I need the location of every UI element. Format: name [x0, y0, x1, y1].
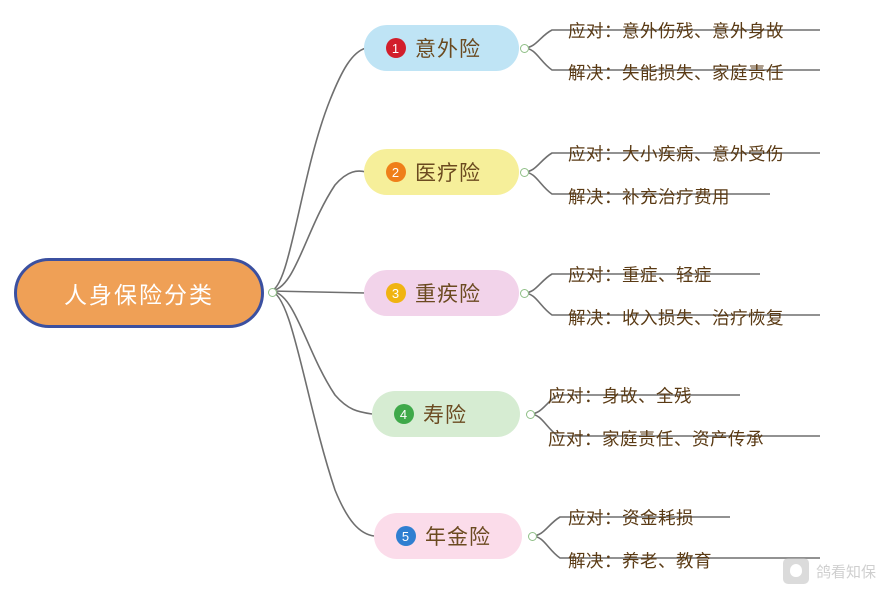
branch-connector-dot-5 [528, 532, 537, 541]
watermark: 鸽看知保 [783, 558, 876, 584]
leaf-5-1: 应对：资金耗损 [568, 505, 694, 530]
branch-label-1: 意外险 [415, 33, 481, 63]
leaf-2-1: 应对：大小疾病、意外受伤 [568, 141, 784, 166]
leaf-1-1: 应对：意外伤残、意外身故 [568, 18, 784, 43]
branch-connector-dot-1 [520, 44, 529, 53]
leaf-3-2: 解决：收入损失、治疗恢复 [568, 305, 784, 330]
root-node[interactable]: 人身保险分类 [14, 258, 264, 328]
branch-badge-3: 3 [386, 283, 406, 303]
branch-badge-2: 2 [386, 162, 406, 182]
leaf-2-2: 解决：补充治疗费用 [568, 184, 730, 209]
branch-label-2: 医疗险 [415, 157, 481, 187]
branch-node-5[interactable]: 5 年金险 [374, 513, 522, 559]
branch-badge-5: 5 [396, 526, 416, 546]
branch-badge-1: 1 [386, 38, 406, 58]
branch-label-3: 重疾险 [415, 278, 481, 308]
branch-connector-dot-3 [520, 289, 529, 298]
leaf-4-2: 应对：家庭责任、资产传承 [548, 426, 764, 451]
branch-badge-4: 4 [394, 404, 414, 424]
branch-label-5: 年金险 [425, 521, 491, 551]
watermark-logo-icon [783, 558, 809, 584]
branch-node-1[interactable]: 1 意外险 [364, 25, 519, 71]
branch-label-4: 寿险 [423, 399, 467, 429]
watermark-text: 鸽看知保 [816, 561, 876, 582]
leaf-1-2: 解决：失能损失、家庭责任 [568, 60, 784, 85]
leaf-4-1: 应对：身故、全残 [548, 383, 692, 408]
leaf-3-1: 应对：重症、轻症 [568, 262, 712, 287]
branch-node-4[interactable]: 4 寿险 [372, 391, 520, 437]
branch-node-2[interactable]: 2 医疗险 [364, 149, 519, 195]
branch-node-3[interactable]: 3 重疾险 [364, 270, 519, 316]
branch-connector-dot-2 [520, 168, 529, 177]
branch-connector-dot-4 [526, 410, 535, 419]
root-connector-dot [268, 288, 277, 297]
leaf-5-2: 解决：养老、教育 [568, 548, 712, 573]
mindmap-canvas: 人身保险分类 1 意外险 应对：意外伤残、意外身故 解决：失能损失、家庭责任 2… [0, 0, 884, 592]
root-node-label: 人身保险分类 [64, 276, 214, 310]
